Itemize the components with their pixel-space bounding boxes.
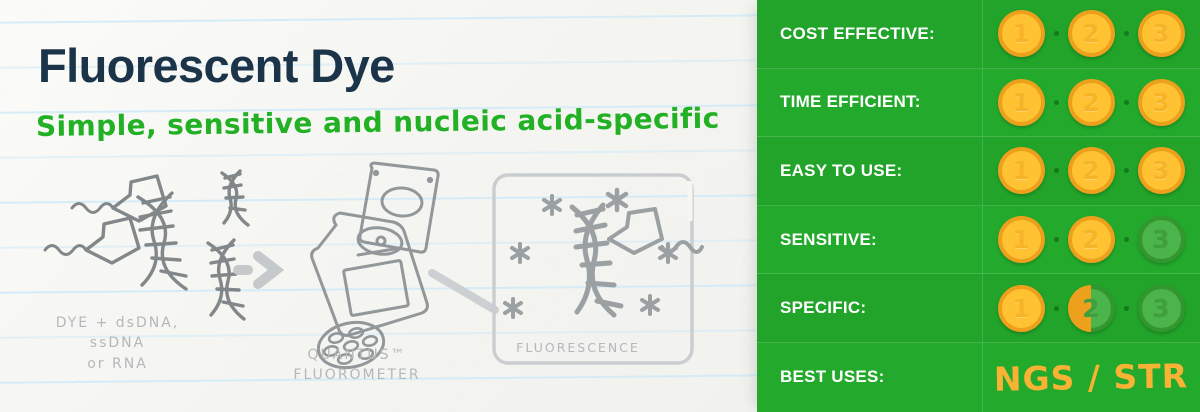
coin-separator-dot xyxy=(1124,237,1129,242)
row-divider xyxy=(982,206,983,274)
fluorometer-label: QUANTUS™ FLUOROMETER xyxy=(262,345,452,386)
coin-separator-dot xyxy=(1054,31,1059,36)
coin-1: 1 xyxy=(998,10,1045,57)
row-divider xyxy=(982,0,983,68)
coin-separator-dot xyxy=(1054,168,1059,173)
coin-separator-dot xyxy=(1124,306,1129,311)
coin-2: 2 xyxy=(1068,79,1115,126)
coin-separator-dot xyxy=(1124,168,1129,173)
rating-label: SPECIFIC: xyxy=(757,298,982,318)
coin-group: 1 2 3 xyxy=(982,216,1200,263)
rating-label: SENSITIVE: xyxy=(757,230,982,250)
coin-group: 1 2 3 xyxy=(982,79,1200,126)
coin-2: 2 xyxy=(1068,10,1115,57)
row-divider xyxy=(982,137,983,205)
coin-3: 3 xyxy=(1138,10,1185,57)
rating-row-time-efficient: TIME EFFICIENT: 1 2 3 xyxy=(757,69,1200,138)
coin-group: 1 2 3 xyxy=(982,147,1200,194)
coin-1: 1 xyxy=(998,79,1045,126)
rating-row-sensitive: SENSITIVE: 1 2 3 xyxy=(757,206,1200,275)
ratings-panel: COST EFFECTIVE: 1 2 3 TIME EFFICIENT: 1 … xyxy=(757,0,1200,412)
rating-row-cost-effective: COST EFFECTIVE: 1 2 3 xyxy=(757,0,1200,69)
input-sample-label: DYE + dsDNA, ssDNA or RNA xyxy=(20,313,215,374)
process-arrow xyxy=(238,256,276,284)
coin-1: 1 xyxy=(998,285,1045,332)
page-title: Fluorescent Dye xyxy=(38,42,395,89)
best-uses-value: NGS / STR xyxy=(982,356,1200,399)
rating-row-easy-to-use: EASY TO USE: 1 2 3 xyxy=(757,137,1200,206)
rating-row-best-uses: BEST USES: NGS / STR xyxy=(757,343,1200,412)
row-divider xyxy=(982,274,983,342)
coin-1: 1 xyxy=(998,147,1045,194)
rating-label: TIME EFFICIENT: xyxy=(757,92,982,112)
coin-separator-dot xyxy=(1124,100,1129,105)
coin-2: 2 xyxy=(1068,216,1115,263)
coin-3: 3 xyxy=(1138,79,1185,126)
coin-separator-dot xyxy=(1124,31,1129,36)
coin-group: 1 2 3 xyxy=(982,10,1200,57)
rating-label: BEST USES: xyxy=(757,367,982,387)
coin-separator-dot xyxy=(1054,306,1059,311)
coin-3: 3 xyxy=(1138,285,1185,332)
rating-row-specific: SPECIFIC: 1 2 3 xyxy=(757,274,1200,343)
coin-2: 2 xyxy=(1068,147,1115,194)
coin-2: 2 xyxy=(1068,285,1115,332)
coin-1: 1 xyxy=(998,216,1045,263)
rating-label: COST EFFECTIVE: xyxy=(757,24,982,44)
infographic-banner: Fluorescent Dye Simple, sensitive and nu… xyxy=(0,0,1200,412)
paper-panel: Fluorescent Dye Simple, sensitive and nu… xyxy=(0,0,757,412)
row-divider xyxy=(982,69,983,137)
fluorescence-label: FLUORESCENCE xyxy=(488,339,668,357)
coin-separator-dot xyxy=(1054,237,1059,242)
coin-group: 1 2 3 xyxy=(982,285,1200,332)
coin-separator-dot xyxy=(1054,100,1059,105)
workflow-illustration: DYE + dsDNA, ssDNA or RNA QUANTUS™ FLUOR… xyxy=(0,155,757,412)
coin-3: 3 xyxy=(1138,147,1185,194)
coin-3: 3 xyxy=(1138,216,1185,263)
rating-label: EASY TO USE: xyxy=(757,161,982,181)
